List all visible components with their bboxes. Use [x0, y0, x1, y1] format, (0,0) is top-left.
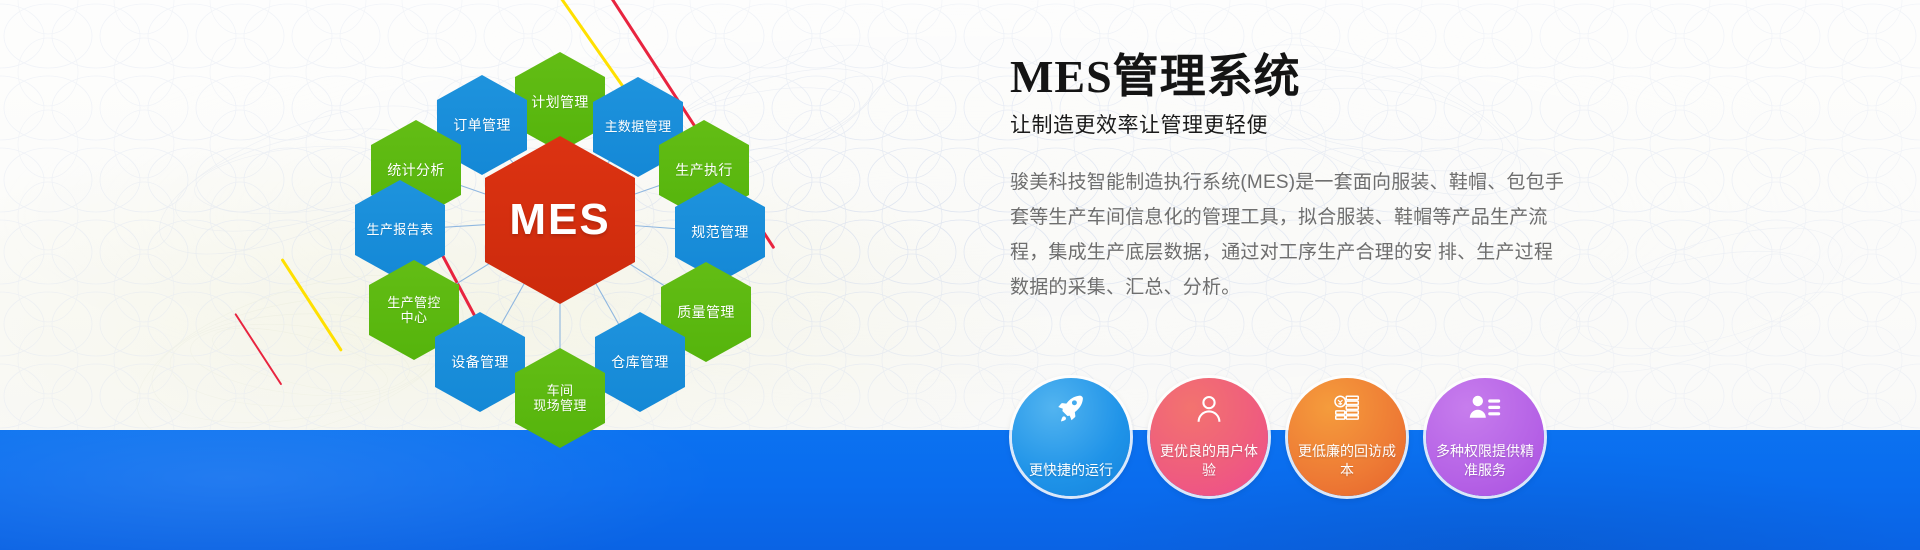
- hex-label: 订单管理: [453, 117, 511, 134]
- badge-lower-revisit-cost[interactable]: 更低廉的回访成本: [1288, 378, 1406, 496]
- user-icon: [1188, 392, 1230, 426]
- hex-label: 统计分析: [387, 162, 445, 179]
- hex-label: 计划管理: [531, 94, 589, 111]
- feature-badge-list: 更快捷的运行 更优良的用户体验: [1012, 378, 1544, 496]
- blue-band: [0, 430, 1920, 550]
- rocket-icon: [1050, 392, 1092, 426]
- badge-label: 更低廉的回访成本: [1288, 442, 1406, 480]
- hex-label: 质量管理: [677, 304, 735, 321]
- badge-label: 更优良的用户体验: [1150, 442, 1268, 480]
- badge-multiple-permissions[interactable]: 多种权限提供精准服务: [1426, 378, 1544, 496]
- badge-faster-operation[interactable]: 更快捷的运行: [1012, 378, 1130, 496]
- hex-label: 生产管控 中心: [387, 295, 441, 326]
- hex-label: 生产执行: [675, 162, 733, 179]
- badge-better-user-experience[interactable]: 更优良的用户体验: [1150, 378, 1268, 496]
- hex-label: 规范管理: [691, 224, 749, 241]
- description-paragraph: 骏美科技智能制造执行系统(MES)是一套面向服装、鞋帽、包包手套等生产车间信息化…: [1010, 165, 1570, 306]
- mes-promo-banner: 计划管理 订单管理 主数据管理 统计分析 生产执行 生产报告表 规范管理 生产管…: [0, 0, 1920, 550]
- page-title: MES管理系统: [1010, 52, 1610, 103]
- hex-label: 仓库管理: [611, 354, 669, 371]
- hex-center-label: MES: [509, 194, 610, 246]
- badge-label: 多种权限提供精准服务: [1426, 442, 1544, 480]
- hex-label: 车间 现场管理: [533, 383, 587, 414]
- mes-hexagon-diagram: 计划管理 订单管理 主数据管理 统计分析 生产执行 生产报告表 规范管理 生产管…: [330, 10, 790, 450]
- banner-content: MES管理系统 让制造更效率让管理更轻便 骏美科技智能制造执行系统(MES)是一…: [1010, 52, 1610, 305]
- money-stack-icon: [1326, 392, 1368, 426]
- hex-label: 主数据管理: [604, 119, 671, 134]
- page-subtitle: 让制造更效率让管理更轻便: [1010, 109, 1610, 139]
- hex-label: 设备管理: [451, 354, 509, 371]
- hex-label: 生产报告表: [366, 222, 433, 237]
- badge-label: 更快捷的运行: [1023, 461, 1119, 480]
- user-list-icon: [1464, 392, 1506, 426]
- guilloche-pattern: [0, 0, 1920, 430]
